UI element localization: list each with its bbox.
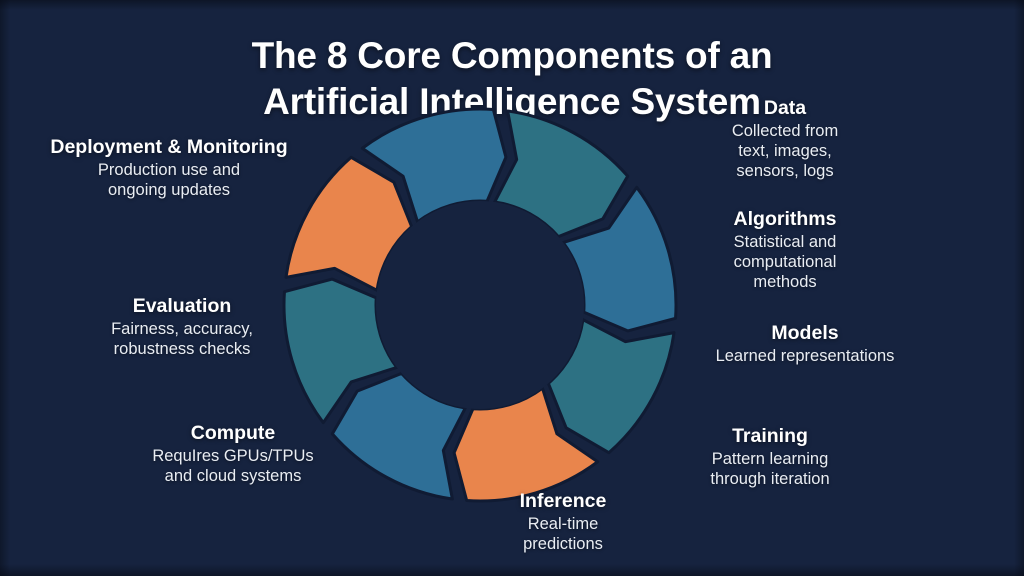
label-data-line-1: Collected from [660,121,910,141]
label-algorithms-line-1: Statistical and [660,232,910,252]
label-data-line-2: text, images, [660,141,910,161]
donut-center-hub [376,201,584,409]
label-evaluation-line-2: robustness checks [62,339,302,359]
label-training-line-1: Pattern learning [650,449,890,469]
label-evaluation-line-1: Fairness, accuracy, [62,319,302,339]
label-algorithms-line-2: computational [660,252,910,272]
label-training-line-2: through iteration [650,469,890,489]
label-data-heading: Data [660,97,910,121]
label-algorithms-line-3: methods [660,272,910,292]
label-data-line-3: sensors, logs [660,161,910,181]
label-deployment-line-2: ongoing updates [14,180,324,200]
label-compute-line-2: and cloud systems [108,466,358,486]
label-models: Models Learned representations [660,322,950,366]
label-evaluation-heading: Evaluation [62,295,302,319]
label-models-heading: Models [660,322,950,346]
label-deployment-line-1: Production use and [14,160,324,180]
label-compute-line-1: RequIres GPUs/TPUs [108,446,358,466]
title-line-1: The 8 Core Components of an [0,33,1024,79]
label-inference-line-2: predictions [448,534,678,554]
label-evaluation: Evaluation Fairness, accuracy, robustnes… [62,295,302,359]
label-inference: Inference Real-time predictions [448,490,678,554]
infographic-canvas: The 8 Core Components of an Artificial I… [0,0,1024,576]
label-inference-line-1: Real-time [448,514,678,534]
label-data: Data Collected from text, images, sensor… [660,97,910,181]
label-training-heading: Training [650,425,890,449]
label-models-line-1: Learned representations [660,346,950,366]
label-compute: Compute RequIres GPUs/TPUs and cloud sys… [108,422,358,486]
label-training: Training Pattern learning through iterat… [650,425,890,489]
label-deployment-monitoring: Deployment & Monitoring Production use a… [14,136,324,200]
label-compute-heading: Compute [108,422,358,446]
label-algorithms-heading: Algorithms [660,208,910,232]
label-algorithms: Algorithms Statistical and computational… [660,208,910,292]
label-deployment-heading: Deployment & Monitoring [14,136,324,160]
label-inference-heading: Inference [448,490,678,514]
